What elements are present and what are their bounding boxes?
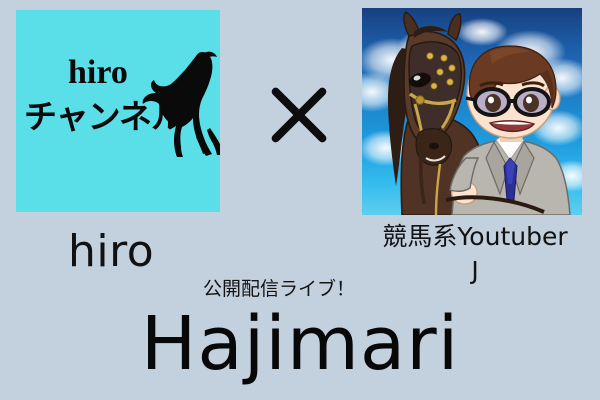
promo-banner: hiro チャンネル bbox=[0, 0, 600, 400]
right-channel-role: 競馬系Youtuber J bbox=[356, 220, 594, 288]
right-channel-role-line2: J bbox=[356, 254, 594, 288]
channel-logo-card: hiro チャンネル bbox=[16, 10, 220, 212]
x-cross-icon bbox=[262, 80, 336, 150]
live-broadcast-label: 公開配信ライブ！ bbox=[203, 280, 355, 299]
channel-logo-content: hiro チャンネル bbox=[16, 56, 220, 166]
right-channel-role-line1: 競馬系Youtuber bbox=[382, 222, 567, 251]
avatar-photo-card bbox=[362, 8, 582, 215]
avatar-illustration bbox=[362, 8, 582, 215]
rearing-horse-silhouette-icon bbox=[140, 50, 220, 158]
main-title: Hajimari bbox=[0, 306, 600, 384]
left-channel-name: hiro bbox=[68, 230, 154, 274]
channel-logo-line1: hiro bbox=[68, 56, 128, 90]
